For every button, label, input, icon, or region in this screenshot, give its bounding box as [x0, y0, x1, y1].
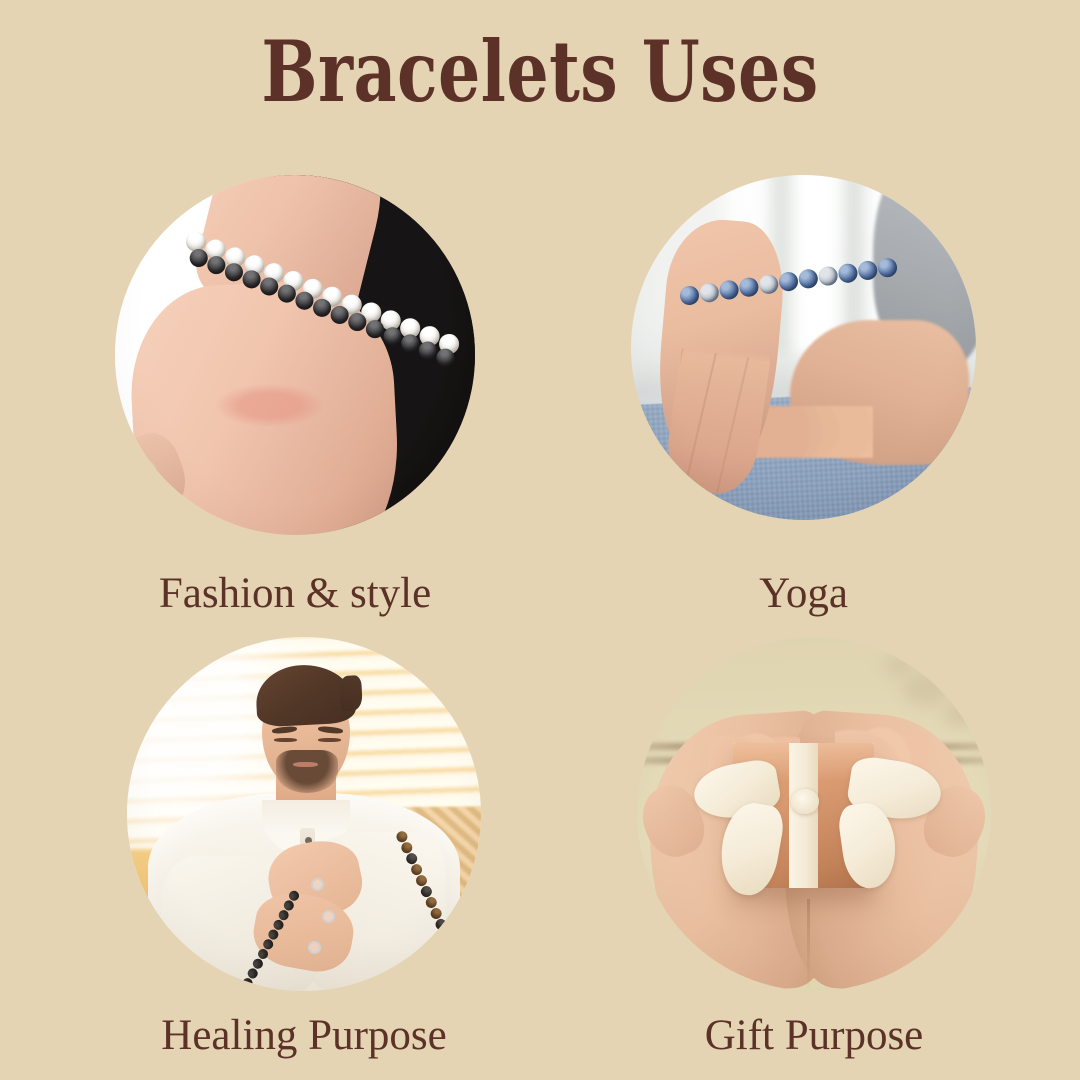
image-yoga-bracelet — [631, 175, 976, 520]
beard — [276, 750, 338, 792]
ring — [311, 878, 324, 891]
knuckle-shading — [216, 384, 324, 427]
image-gift-box — [637, 637, 991, 991]
item-yoga: Yoga — [631, 175, 976, 617]
page-title: Bracelets Uses — [65, 28, 1015, 116]
ribbon-knot — [791, 789, 819, 814]
photo-yoga-hand — [631, 175, 976, 520]
item-gift: Gift Purpose — [637, 637, 991, 1059]
item-fashion: Fashion & style — [115, 175, 475, 617]
lips — [293, 762, 318, 768]
photo-hands-with-gift — [637, 637, 991, 991]
photo-fashion-hand — [115, 175, 475, 535]
photo-man-meditating — [127, 637, 481, 991]
caption-gift: Gift Purpose — [637, 1012, 991, 1059]
image-healing-meditation — [127, 637, 481, 991]
caption-healing: Healing Purpose — [127, 1012, 481, 1059]
ring — [308, 941, 321, 954]
background-blur-blob — [943, 701, 977, 727]
ribbon-vertical — [789, 743, 817, 888]
palm-crease — [807, 899, 810, 991]
item-healing: Healing Purpose — [127, 637, 481, 1059]
caption-fashion: Fashion & style — [115, 570, 475, 617]
background-blur-blob — [903, 672, 949, 706]
poster-canvas: Bracelets Uses Fashion & style — [0, 0, 1080, 1080]
ring — [322, 910, 335, 923]
background-blur-blob — [885, 655, 913, 677]
caption-yoga: Yoga — [631, 570, 976, 617]
image-fashion-bracelet — [115, 175, 475, 535]
